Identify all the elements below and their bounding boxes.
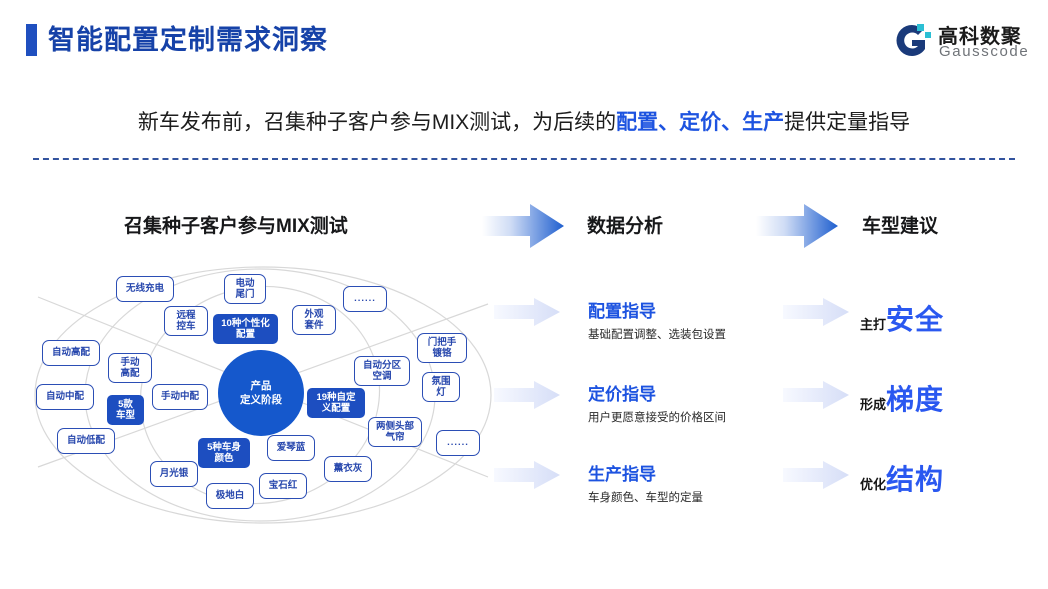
mindmap-node: 氛围 灯 xyxy=(422,372,460,402)
suggestion-prefix: 优化 xyxy=(860,477,886,492)
analysis-title: 定价指导 xyxy=(588,383,726,407)
mindmap-node: 自动高配 xyxy=(42,340,100,366)
gausscode-g-icon xyxy=(892,22,932,60)
mindmap-node: 无线充电 xyxy=(116,276,174,302)
analysis-title: 生产指导 xyxy=(588,463,703,487)
column-header-collect: 召集种子客户参与MIX测试 xyxy=(124,214,348,240)
suggestion-item-safety: 主打安全 xyxy=(860,298,944,338)
mindmap-badge-node: 19种自定 义配置 xyxy=(307,388,365,418)
mindmap-badge-node: 5款 车型 xyxy=(107,395,144,425)
mindmap-node: 远程 控车 xyxy=(164,306,208,336)
subtitle-part2: 提供定量指导 xyxy=(784,111,910,134)
page-title: 智能配置定制需求洞察 xyxy=(48,22,328,58)
analysis-subtitle: 车身颜色、车型的定量 xyxy=(588,489,703,507)
section-divider xyxy=(33,158,1015,160)
mindmap-node: 电动 尾门 xyxy=(224,274,266,304)
mindmap-badge-node: 5种车身 颜色 xyxy=(198,438,250,468)
flow-arrow-production-to-structure-icon xyxy=(783,461,849,489)
mindmap-node: 手动 高配 xyxy=(108,353,152,383)
mindmap-node: ...... xyxy=(343,286,387,312)
suggestion-prefix: 主打 xyxy=(860,317,886,332)
analysis-subtitle: 用户更愿意接受的价格区间 xyxy=(588,409,726,427)
analysis-item-pricing[interactable]: 定价指导 用户更愿意接受的价格区间 xyxy=(588,383,726,427)
title-accent-bar xyxy=(26,24,37,56)
mindmap-node: 薰衣灰 xyxy=(324,456,372,482)
logo-text-en: Gausscode xyxy=(939,43,1029,60)
analysis-title: 配置指导 xyxy=(588,300,726,324)
suggestion-prefix: 形成 xyxy=(860,397,886,412)
mindmap-node: 爱琴蓝 xyxy=(267,435,315,461)
mindmap-node: 自动中配 xyxy=(36,384,94,410)
suggestion-keyword: 安全 xyxy=(886,304,944,335)
subtitle-highlight: 配置、定价、生产 xyxy=(616,111,784,134)
slide-header: 智能配置定制需求洞察 高科数聚 Gausscode xyxy=(0,0,1048,78)
mindmap-core-node: 产品 定义阶段 xyxy=(218,350,304,436)
mindmap-node: 月光银 xyxy=(150,461,198,487)
flow-arrow-pricing-to-tier-icon xyxy=(783,381,849,409)
mindmap-node: 手动中配 xyxy=(152,384,208,410)
flow-arrow-config-to-safety-icon xyxy=(783,298,849,326)
subtitle-part1: 新车发布前，召集种子客户参与MIX测试，为后续的 xyxy=(138,111,616,134)
flow-arrow-map-to-config-icon xyxy=(494,298,560,326)
column-header-analysis: 数据分析 xyxy=(587,214,663,240)
suggestion-item-structure: 优化结构 xyxy=(860,458,944,498)
mindmap-node: 外观 套件 xyxy=(292,305,336,335)
flow-arrow-map-to-pricing-icon xyxy=(494,381,560,409)
mindmap-node: 门把手 镀铬 xyxy=(417,333,467,363)
mindmap-node: 自动低配 xyxy=(57,428,115,454)
subtitle-line: 新车发布前，召集种子客户参与MIX测试，为后续的配置、定价、生产提供定量指导 xyxy=(0,108,1048,138)
header-arrow-1-icon xyxy=(482,203,564,249)
analysis-item-config[interactable]: 配置指导 基础配置调整、选装包设置 xyxy=(588,300,726,344)
suggestion-item-tier: 形成梯度 xyxy=(860,378,944,418)
mindmap-badge-node: 10种个性化 配置 xyxy=(213,314,278,344)
mindmap-node: 极地白 xyxy=(206,483,254,509)
mindmap-node: 自动分区 空调 xyxy=(354,356,410,386)
mindmap-node: 宝石红 xyxy=(259,473,307,499)
slide-root: 智能配置定制需求洞察 高科数聚 Gausscode 新车发布前，召集种子客户参与… xyxy=(0,0,1048,589)
header-arrow-2-icon xyxy=(756,203,838,249)
column-header-suggestion: 车型建议 xyxy=(862,214,938,240)
analysis-subtitle: 基础配置调整、选装包设置 xyxy=(588,326,726,344)
suggestion-keyword: 结构 xyxy=(886,464,944,495)
brand-logo: 高科数聚 Gausscode xyxy=(892,18,1034,64)
suggestion-keyword: 梯度 xyxy=(886,384,944,415)
flow-arrow-map-to-production-icon xyxy=(494,461,560,489)
mindmap-node: ...... xyxy=(436,430,480,456)
mindmap-diagram: 产品 定义阶段 无线充电电动 尾门......远程 控车10种个性化 配置外观 … xyxy=(28,262,498,524)
mindmap-node: 两侧头部 气帘 xyxy=(368,417,422,447)
analysis-item-production[interactable]: 生产指导 车身颜色、车型的定量 xyxy=(588,463,703,507)
